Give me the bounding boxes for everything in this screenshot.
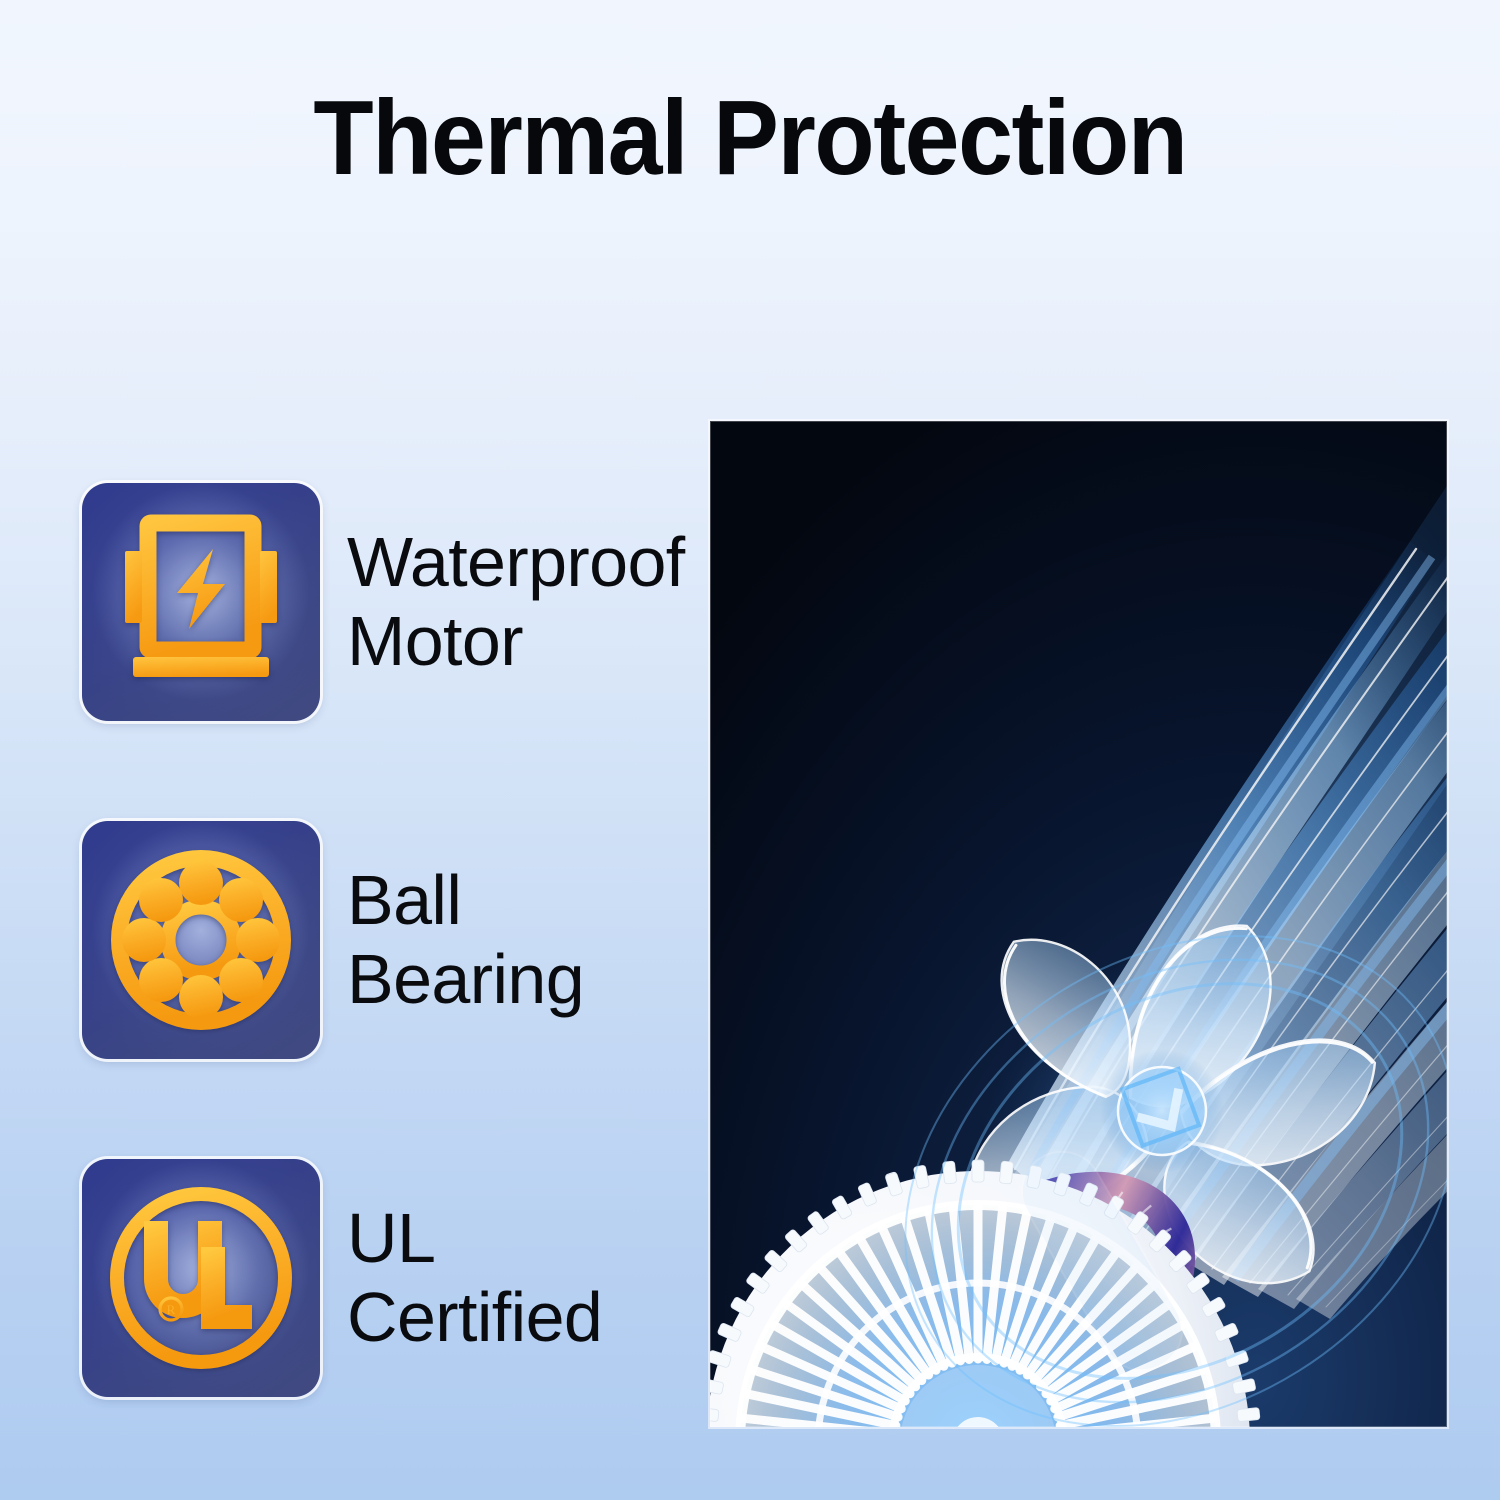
feature-label-ul-certified: UL Certified: [347, 1199, 602, 1357]
product-photo-panel: [710, 421, 1447, 1427]
feature-label-waterproof-motor: Waterproof Motor: [347, 523, 685, 681]
ball-bearing-icon-tile: [82, 821, 320, 1059]
svg-text:R: R: [167, 1302, 176, 1317]
feature-label-ball-bearing: Ball Bearing: [347, 861, 584, 1019]
motor-airflow-illustration: [710, 421, 1447, 1427]
page-title: Thermal Protection: [53, 84, 1448, 192]
ball-bearing-icon: [82, 821, 320, 1059]
ul-certified-icon: R: [82, 1159, 320, 1397]
ul-certified-icon-tile: R: [82, 1159, 320, 1397]
feature-item-waterproof-motor: Waterproof Motor: [82, 483, 682, 721]
waterproof-motor-icon-tile: [82, 483, 320, 721]
feature-list: Waterproof Motor: [82, 483, 682, 1397]
feature-item-ul-certified: R UL Certified: [82, 1159, 682, 1397]
waterproof-motor-icon: [82, 483, 320, 721]
feature-item-ball-bearing: Ball Bearing: [82, 821, 682, 1059]
